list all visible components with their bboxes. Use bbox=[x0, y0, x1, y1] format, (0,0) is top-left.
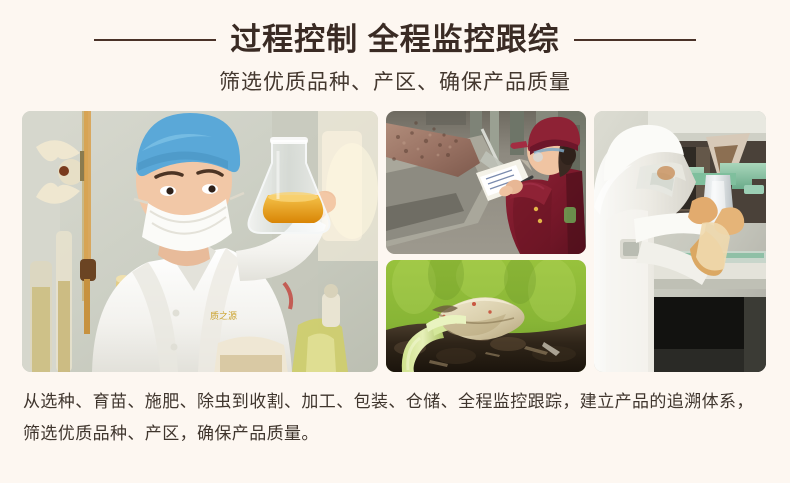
photo-lab-inspection: 质之源 bbox=[22, 111, 378, 372]
photo-clean-room-packaging bbox=[594, 111, 766, 372]
left-divider-rule bbox=[94, 39, 216, 41]
page-title: 过程控制 全程监控跟综 bbox=[230, 18, 560, 62]
promo-banner: 过程控制 全程监控跟综 筛选优质品种、产区、确保产品质量 bbox=[0, 0, 790, 483]
photo-seed-sprout bbox=[386, 260, 586, 372]
raw-material-inspection-illustration bbox=[386, 111, 586, 254]
header-section: 过程控制 全程监控跟综 筛选优质品种、产区、确保产品质量 bbox=[0, 0, 790, 108]
description-line-2: 筛选优质品种、产区，确保产品质量。 bbox=[23, 418, 767, 450]
lab-inspection-illustration: 质之源 bbox=[22, 111, 378, 372]
description-text: 从选种、育苗、施肥、除虫到收割、加工、包装、仓储、全程监控跟踪，建立产品的追溯体… bbox=[23, 386, 767, 450]
seed-sprout-illustration bbox=[386, 260, 586, 372]
photo-gallery: 质之源 bbox=[22, 111, 766, 372]
description-line-1: 从选种、育苗、施肥、除虫到收割、加工、包装、仓储、全程监控跟踪，建立产品的追溯体… bbox=[23, 386, 767, 418]
clean-room-packaging-illustration bbox=[594, 111, 766, 372]
svg-text:质之源: 质之源 bbox=[210, 310, 237, 321]
photo-raw-material-inspection bbox=[386, 111, 586, 254]
title-row: 过程控制 全程监控跟综 bbox=[0, 18, 790, 62]
right-divider-rule bbox=[574, 39, 696, 41]
page-subtitle: 筛选优质品种、产区、确保产品质量 bbox=[0, 66, 790, 96]
